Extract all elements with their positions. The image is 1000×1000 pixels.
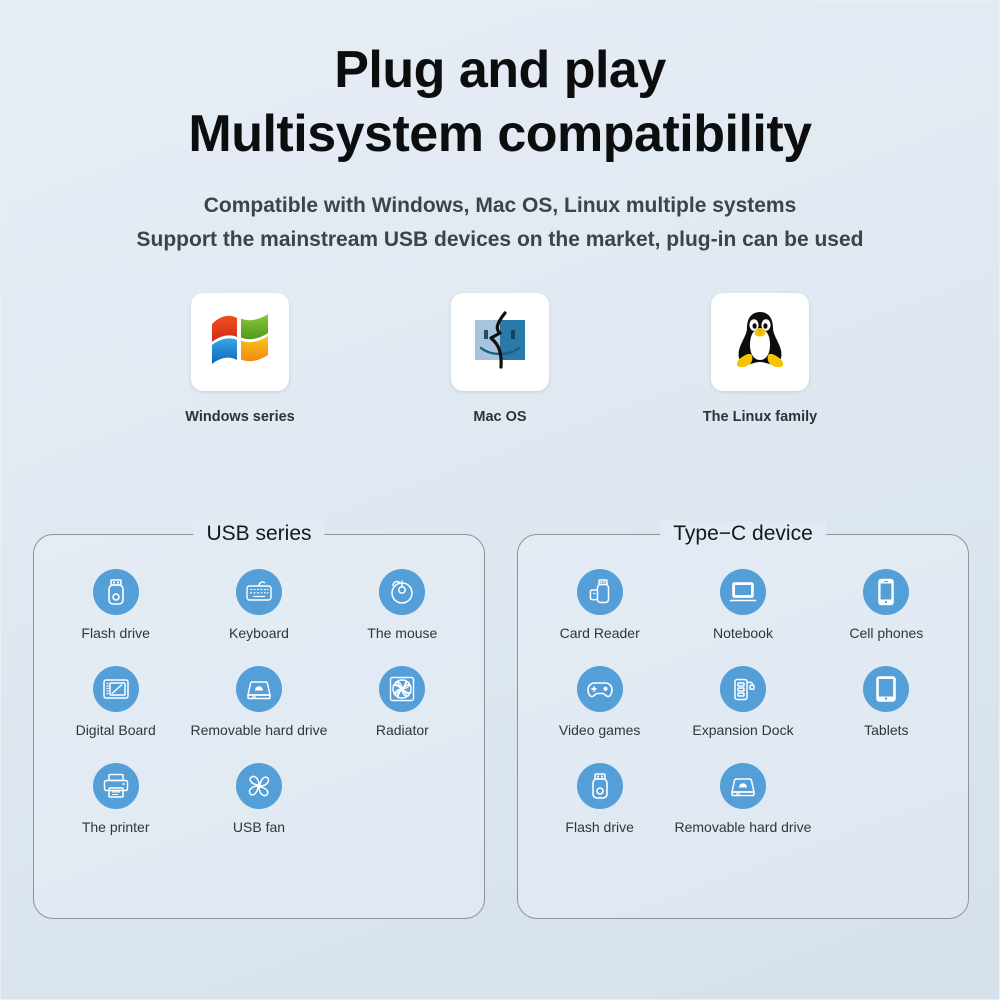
device-label: The printer — [44, 819, 187, 836]
card-reader-icon — [577, 569, 623, 615]
device-label: Notebook — [671, 625, 814, 642]
device-panels: USB series Flash drive — [33, 534, 969, 919]
device-item-printer[interactable]: The printer — [44, 763, 187, 836]
usb-flash-drive-icon — [577, 763, 623, 809]
os-label-macos: Mac OS — [425, 409, 575, 425]
header-section: Plug and play Multisystem compatibility … — [1, 1, 999, 257]
device-item-flash-drive[interactable]: Flash drive — [44, 569, 187, 642]
panel-usb-series: USB series Flash drive — [33, 534, 485, 919]
os-label-linux: The Linux family — [685, 409, 835, 425]
keyboard-icon — [236, 569, 282, 615]
device-label: Card Reader — [528, 625, 671, 642]
os-tile-windows — [191, 293, 289, 391]
laptop-icon — [720, 569, 766, 615]
device-label: Removable hard drive — [671, 819, 814, 836]
panel-type-c-device: Type−C device Card Reader — [517, 534, 969, 919]
printer-icon — [93, 763, 139, 809]
device-item-mouse[interactable]: The mouse — [331, 569, 474, 642]
device-item-keyboard[interactable]: Keyboard — [187, 569, 330, 642]
device-item-radiator[interactable]: Radiator — [331, 666, 474, 739]
device-label: Expansion Dock — [671, 722, 814, 739]
os-item-windows: Windows series — [165, 293, 315, 425]
device-item-flash-drive-typec[interactable]: Flash drive — [528, 763, 671, 836]
panel-title-type-c-device: Type−C device — [660, 521, 826, 547]
os-tile-macos — [451, 293, 549, 391]
smartphone-icon — [863, 569, 909, 615]
usb-flash-drive-icon — [93, 569, 139, 615]
page-title-line-2: Multisystem compatibility — [1, 101, 999, 167]
os-support-row: Windows series Mac OS — [1, 293, 999, 425]
os-label-windows: Windows series — [165, 409, 315, 425]
os-tile-linux — [711, 293, 809, 391]
device-label: The mouse — [331, 625, 474, 642]
device-item-removable-hard-drive-typec[interactable]: Removable hard drive — [671, 763, 814, 836]
device-label: Radiator — [331, 722, 474, 739]
device-label: Removable hard drive — [187, 722, 330, 739]
cooling-fan-grille-icon — [379, 666, 425, 712]
linux-tux-logo-icon — [731, 309, 789, 376]
mouse-icon — [379, 569, 425, 615]
device-label: Digital Board — [44, 722, 187, 739]
device-item-usb-fan[interactable]: USB fan — [187, 763, 330, 836]
device-item-notebook[interactable]: Notebook — [671, 569, 814, 642]
external-hard-drive-icon — [720, 763, 766, 809]
device-label: Tablets — [815, 722, 958, 739]
tablet-icon — [863, 666, 909, 712]
external-hard-drive-icon — [236, 666, 282, 712]
device-item-digital-board[interactable]: Digital Board — [44, 666, 187, 739]
device-label: Keyboard — [187, 625, 330, 642]
device-label: Cell phones — [815, 625, 958, 642]
device-item-cell-phones[interactable]: Cell phones — [815, 569, 958, 642]
windows-logo-icon — [209, 311, 271, 374]
device-item-tablets[interactable]: Tablets — [815, 666, 958, 739]
device-item-expansion-dock[interactable]: Expansion Dock — [671, 666, 814, 739]
device-label: Flash drive — [44, 625, 187, 642]
infographic-page: Plug and play Multisystem compatibility … — [0, 0, 1000, 1000]
mac-finder-logo-icon — [469, 311, 531, 374]
os-item-macos: Mac OS — [425, 293, 575, 425]
os-item-linux: The Linux family — [685, 293, 835, 425]
graphics-tablet-icon — [93, 666, 139, 712]
device-label: Flash drive — [528, 819, 671, 836]
usb-fan-icon — [236, 763, 282, 809]
gamepad-icon — [577, 666, 623, 712]
device-item-card-reader[interactable]: Card Reader — [528, 569, 671, 642]
device-item-video-games[interactable]: Video games — [528, 666, 671, 739]
usb-hub-dock-icon — [720, 666, 766, 712]
device-label: USB fan — [187, 819, 330, 836]
panel-title-usb-series: USB series — [193, 521, 324, 547]
page-title-line-1: Plug and play — [1, 39, 999, 101]
subtitle-line-1: Compatible with Windows, Mac OS, Linux m… — [1, 189, 999, 223]
device-label: Video games — [528, 722, 671, 739]
device-item-removable-hard-drive[interactable]: Removable hard drive — [187, 666, 330, 739]
subtitle-line-2: Support the mainstream USB devices on th… — [1, 223, 999, 257]
